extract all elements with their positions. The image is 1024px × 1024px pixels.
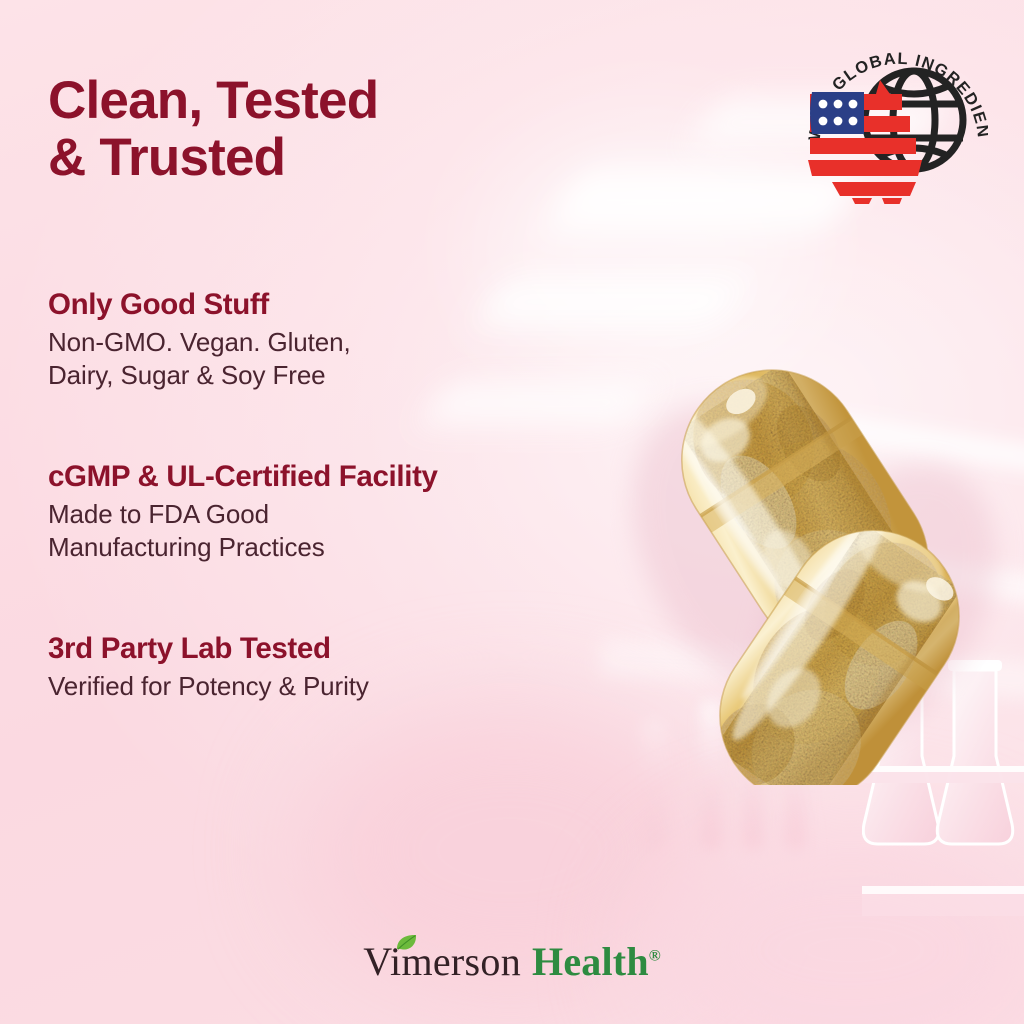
flag-canton [810, 92, 864, 134]
made-in-usa-global-ingredients-badge: WITH GLOBAL INGREDIENTS [806, 28, 988, 204]
benefit-title: 3rd Party Lab Tested [48, 632, 648, 665]
promo-image-canvas: Clean, Tested & Trusted WITH GLOBAL INGR… [0, 0, 1024, 1024]
brand-name-secondary: Health [532, 939, 649, 984]
blurred-test-tube [784, 700, 806, 850]
lab-flask-rack-icon [862, 648, 1024, 978]
benefit-title: Only Good Stuff [48, 288, 648, 321]
registered-trademark-symbol: ® [649, 948, 661, 965]
benefit-description: Made to FDA Good Manufacturing Practices [48, 498, 648, 565]
lab-shelf-edge [819, 412, 1024, 474]
background-haze [640, 820, 1024, 1024]
brand-logo: VimersonHealth® [0, 942, 1024, 982]
leaf-icon [396, 934, 417, 951]
benefit-description: Non-GMO. Vegan. Gluten, Dairy, Sugar & S… [48, 326, 648, 393]
product-capsules-image [610, 255, 1024, 785]
blurred-test-tube [742, 690, 764, 850]
lab-counter-edge [599, 639, 1024, 700]
lab-shelf-edge [829, 542, 1024, 608]
benefit-description: Verified for Potency & Purity [48, 670, 648, 703]
brand-name-primary: Vimerson [363, 939, 521, 984]
usa-flag-map-icon [808, 80, 922, 204]
benefit-item-only-good-stuff: Only Good Stuff Non-GMO. Vegan. Gluten, … [48, 288, 648, 408]
benefits-list: Only Good Stuff Non-GMO. Vegan. Gluten, … [48, 288, 648, 703]
benefit-item-cgmp-ul-certified-facility: cGMP & UL-Certified Facility Made to FDA… [48, 460, 648, 580]
blurred-test-tube [640, 720, 666, 850]
benefit-item-3rd-party-lab-tested: 3rd Party Lab Tested Verified for Potenc… [48, 632, 648, 703]
benefit-title: cGMP & UL-Certified Facility [48, 460, 648, 493]
page-title: Clean, Tested & Trusted [48, 72, 568, 186]
blurred-test-tube [700, 700, 722, 850]
